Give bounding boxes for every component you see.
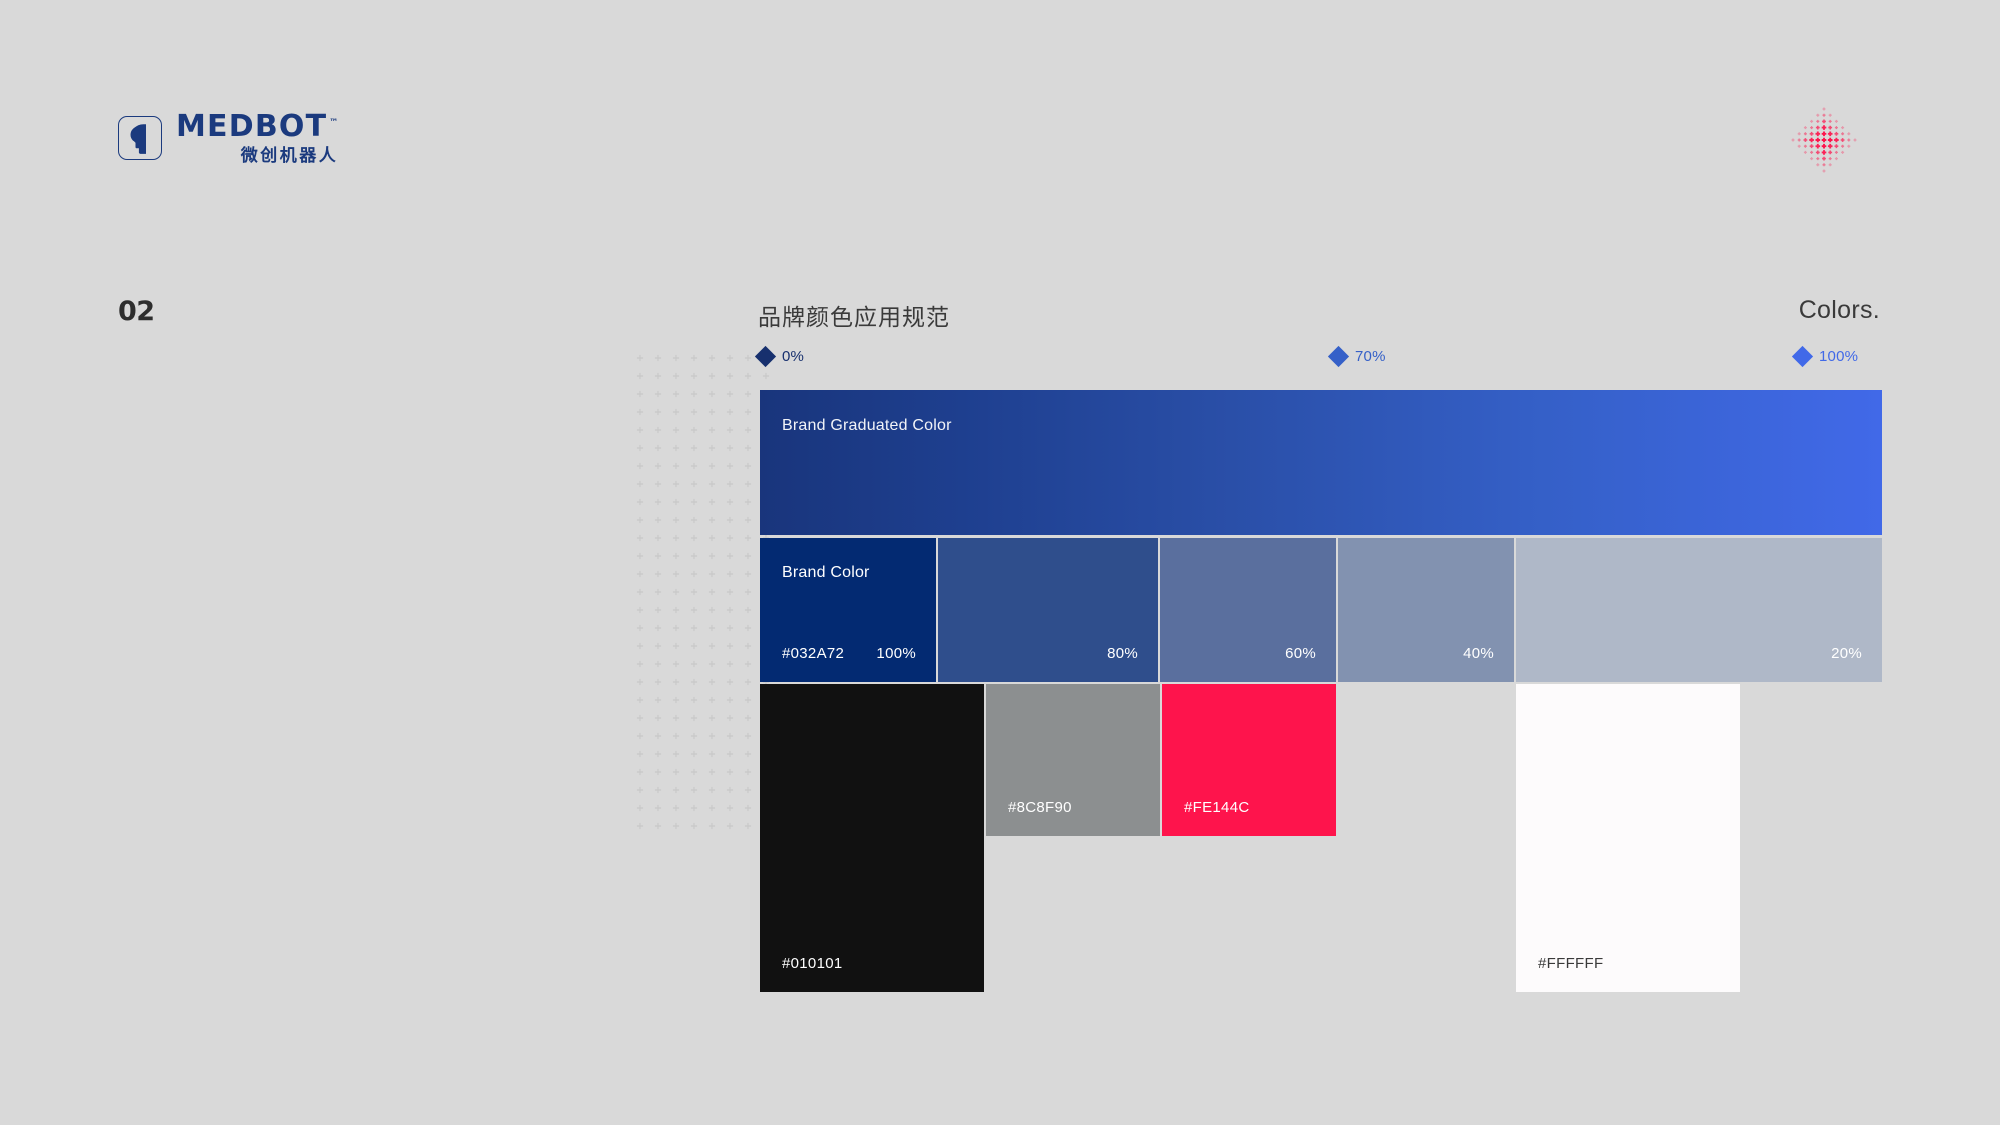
brand-wordmark: MEDBOT™ — [176, 112, 338, 142]
black-hex: #010101 — [782, 955, 843, 972]
swatch-accent-red: #FE144C — [1162, 684, 1336, 836]
legend-100-label: 100% — [1819, 348, 1858, 365]
legend-0-percent: 0% — [758, 348, 804, 365]
brand-color-hex: #032A72 — [782, 645, 844, 662]
brand-wordmark-text: MEDBOT — [176, 109, 327, 144]
swatch-gray: #8C8F90 — [986, 684, 1160, 836]
diamond-marker-icon — [755, 346, 776, 367]
trademark-symbol: ™ — [329, 118, 338, 128]
tint-80-percent: 80% — [1107, 645, 1138, 662]
brand-gradient-label: Brand Graduated Color — [782, 417, 952, 435]
diamond-marker-icon — [1328, 346, 1349, 367]
section-title-cn: 品牌颜色应用规范 — [758, 298, 950, 332]
page-header: MEDBOT™ 微创机器人 — [0, 0, 2000, 230]
legend-70-percent: 70% — [1331, 348, 1386, 365]
gray-hex: #8C8F90 — [1008, 799, 1072, 816]
swatch-tint-80: 80% — [938, 538, 1158, 682]
brand-color-label: Brand Color — [782, 564, 870, 582]
brand-wordmark-group: MEDBOT™ 微创机器人 — [176, 112, 338, 164]
brand-gradient-bar: Brand Graduated Color — [760, 390, 1882, 535]
swatch-tint-40: 40% — [1338, 538, 1514, 682]
legend-100-percent: 100% — [1795, 348, 1858, 365]
tint-40-percent: 40% — [1463, 645, 1494, 662]
swatch-tint-20: 20% — [1516, 538, 1882, 682]
section-number: 02 — [118, 296, 155, 327]
brand-wordmark-cn: 微创机器人 — [241, 147, 339, 164]
section-title-en: Colors. — [1799, 296, 1880, 325]
diamond-marker-icon — [1792, 346, 1813, 367]
accent-hex: #FE144C — [1184, 799, 1249, 816]
color-swatch-grid: Brand Graduated Color Brand Color #032A7… — [760, 390, 1882, 992]
legend-70-label: 70% — [1355, 348, 1386, 365]
swatch-brand-color: Brand Color #032A72 100% — [760, 538, 936, 682]
diamond-dot-cluster-icon — [1788, 104, 1860, 176]
head-profile-icon — [118, 116, 162, 160]
tint-20-percent: 20% — [1831, 645, 1862, 662]
white-hex: #FFFFFF — [1538, 955, 1603, 972]
swatch-white: #FFFFFF — [1516, 684, 1740, 992]
brand-logo: MEDBOT™ 微创机器人 — [118, 112, 338, 164]
legend-0-label: 0% — [782, 348, 804, 365]
tint-60-percent: 60% — [1285, 645, 1316, 662]
swatch-tint-60: 60% — [1160, 538, 1336, 682]
brand-color-percent: 100% — [876, 645, 916, 662]
swatch-black: #010101 — [760, 684, 984, 992]
